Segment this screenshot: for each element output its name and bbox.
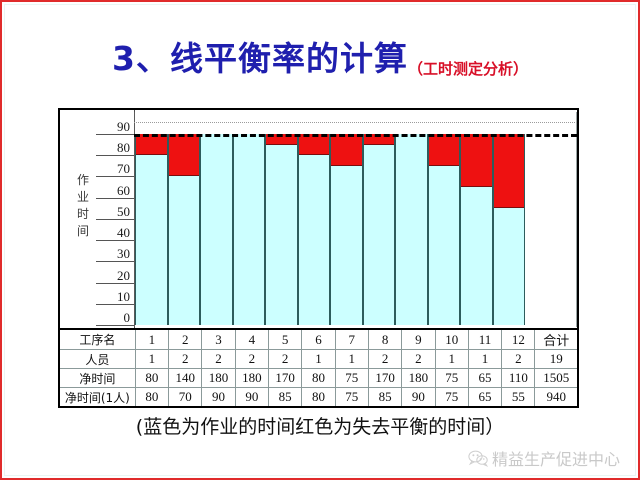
table-cell-total: 1505 (535, 369, 578, 388)
table-cell: 55 (502, 388, 535, 408)
table-cell: 75 (435, 369, 468, 388)
y-tick-label-10: 10 (117, 290, 130, 303)
upper-dotted-gridline (134, 122, 577, 123)
table-cell: 2 (235, 350, 268, 369)
y-tick-label-30: 30 (117, 247, 130, 260)
bar-segment-work-5 (266, 145, 297, 325)
table-cell: 140 (169, 369, 202, 388)
bar-column-11 (460, 134, 493, 325)
target-dashed-line (134, 134, 577, 137)
title-sub-text: （工时测定分析） (408, 60, 528, 78)
table-cell: 65 (468, 388, 501, 408)
bar-column-5 (265, 134, 298, 325)
wechat-icon (468, 450, 488, 467)
table-cell-total: 940 (535, 388, 578, 408)
table-cell: 5 (268, 329, 301, 350)
table-cell-total: 合计 (535, 329, 578, 350)
y-tick-line-40 (96, 240, 134, 241)
table-cell: 2 (169, 329, 202, 350)
bar-segment-imbalance-1 (136, 134, 167, 155)
y-tick-line-0 (96, 325, 134, 326)
y-tick-label-0: 0 (124, 311, 131, 324)
y-tick-label-80: 80 (117, 141, 130, 154)
y-tick-label-20: 20 (117, 269, 130, 282)
title-main-text: 3、线平衡率的计算 (112, 39, 408, 78)
table-row: 工序名123456789101112合计 (59, 329, 578, 350)
y-tick-line-20 (96, 283, 134, 284)
table-cell: 170 (368, 369, 401, 388)
table-cell: 7 (335, 329, 368, 350)
bar-segment-imbalance-6 (299, 134, 330, 155)
bar-segment-imbalance-10 (429, 134, 460, 166)
bar-column-12 (493, 134, 526, 325)
table-cell: 80 (302, 369, 335, 388)
y-tick-line-70 (96, 176, 134, 177)
plot-area (134, 112, 577, 327)
table-cell: 75 (335, 388, 368, 408)
bar-column-7 (330, 134, 363, 325)
table-cell: 110 (502, 369, 535, 388)
table-cell: 2 (502, 350, 535, 369)
table-cell: 1 (135, 350, 168, 369)
table-cell: 1 (335, 350, 368, 369)
bar-column-4 (233, 134, 266, 325)
table-cell: 10 (435, 329, 468, 350)
y-tick-line-60 (96, 198, 134, 199)
table-cell: 12 (502, 329, 535, 350)
table-row-label: 工序名 (59, 329, 135, 350)
bar-segment-work-4 (234, 134, 265, 325)
bar-segment-work-1 (136, 155, 167, 325)
watermark-text: 精益生产促进中心 (492, 446, 620, 470)
bar-segment-work-2 (169, 176, 200, 325)
table-cell: 2 (368, 350, 401, 369)
bar-column-10 (428, 134, 461, 325)
y-tick-line-80 (96, 155, 134, 156)
table-row: 人员12222112211219 (59, 350, 578, 369)
table-cell: 75 (435, 388, 468, 408)
table-cell: 80 (135, 388, 168, 408)
table-row: 净时间80140180180170807517018075651101505 (59, 369, 578, 388)
table-cell-total: 19 (535, 350, 578, 369)
table-cell: 11 (468, 329, 501, 350)
page-title: 3、线平衡率的计算（工时测定分析） (0, 32, 640, 80)
bar-column-3 (200, 134, 233, 325)
table-cell: 8 (368, 329, 401, 350)
y-tick-line-30 (96, 261, 134, 262)
table-cell: 180 (235, 369, 268, 388)
bar-segment-work-7 (331, 166, 362, 325)
table-cell: 70 (169, 388, 202, 408)
table-row: 净时间(1人)807090908580758590756555940 (59, 388, 578, 408)
y-axis-title-char-0: 作 (74, 172, 92, 189)
bar-column-6 (298, 134, 331, 325)
bar-series-group (135, 134, 525, 325)
bar-segment-imbalance-12 (494, 134, 525, 208)
table-cell: 65 (468, 369, 501, 388)
bar-segment-work-12 (494, 208, 525, 325)
bar-segment-work-6 (299, 155, 330, 325)
y-axis: 9080706050403020100 (96, 112, 134, 327)
bar-segment-imbalance-2 (169, 134, 200, 176)
bar-segment-imbalance-11 (461, 134, 492, 187)
y-axis-title: 作 业 时 间 (74, 172, 92, 240)
table-cell: 2 (402, 350, 435, 369)
y-tick-label-40: 40 (117, 226, 130, 239)
bar-segment-imbalance-7 (331, 134, 362, 166)
bar-column-2 (168, 134, 201, 325)
table-cell: 9 (402, 329, 435, 350)
table-body: 工序名123456789101112合计人员12222112211219净时间8… (59, 329, 578, 407)
chart-caption: (蓝色为作业的时间红色为失去平衡的时间） (0, 412, 640, 439)
bar-column-9 (395, 134, 428, 325)
table-cell: 1 (468, 350, 501, 369)
table-row-label: 人员 (59, 350, 135, 369)
table-cell: 170 (268, 369, 301, 388)
table-cell: 80 (302, 388, 335, 408)
bar-segment-work-8 (364, 145, 395, 325)
bar-column-1 (135, 134, 168, 325)
y-tick-label-90: 90 (117, 120, 130, 133)
bar-column-8 (363, 134, 396, 325)
table-cell: 75 (335, 369, 368, 388)
y-tick-line-90 (96, 134, 134, 135)
bar-segment-work-10 (429, 166, 460, 325)
table-cell: 1 (135, 329, 168, 350)
y-tick-line-10 (96, 304, 134, 305)
process-data-table: 工序名123456789101112合计人员12222112211219净时间8… (58, 328, 579, 408)
table-row-label: 净时间(1人) (59, 388, 135, 408)
y-axis-title-char-2: 时 (74, 206, 92, 223)
table-cell: 180 (402, 369, 435, 388)
table-cell: 80 (135, 369, 168, 388)
table-cell: 6 (302, 329, 335, 350)
watermark: 精益生产促进中心 (468, 446, 620, 470)
y-tick-line-50 (96, 219, 134, 220)
bar-segment-work-11 (461, 187, 492, 325)
table-row-label: 净时间 (59, 369, 135, 388)
y-tick-label-70: 70 (117, 162, 130, 175)
table-cell: 4 (235, 329, 268, 350)
table-cell: 2 (202, 350, 235, 369)
table-cell: 90 (235, 388, 268, 408)
table-cell: 90 (402, 388, 435, 408)
table-cell: 1 (302, 350, 335, 369)
table-cell: 2 (268, 350, 301, 369)
table-cell: 2 (169, 350, 202, 369)
table-cell: 85 (268, 388, 301, 408)
bar-segment-work-3 (201, 134, 232, 325)
table-cell: 3 (202, 329, 235, 350)
y-tick-label-50: 50 (117, 205, 130, 218)
y-axis-title-char-1: 业 (74, 189, 92, 206)
table-cell: 85 (368, 388, 401, 408)
table-cell: 1 (435, 350, 468, 369)
table-cell: 180 (202, 369, 235, 388)
y-axis-title-char-3: 间 (74, 223, 92, 240)
bar-segment-work-9 (396, 134, 427, 325)
table-cell: 90 (202, 388, 235, 408)
y-tick-label-60: 60 (117, 184, 130, 197)
